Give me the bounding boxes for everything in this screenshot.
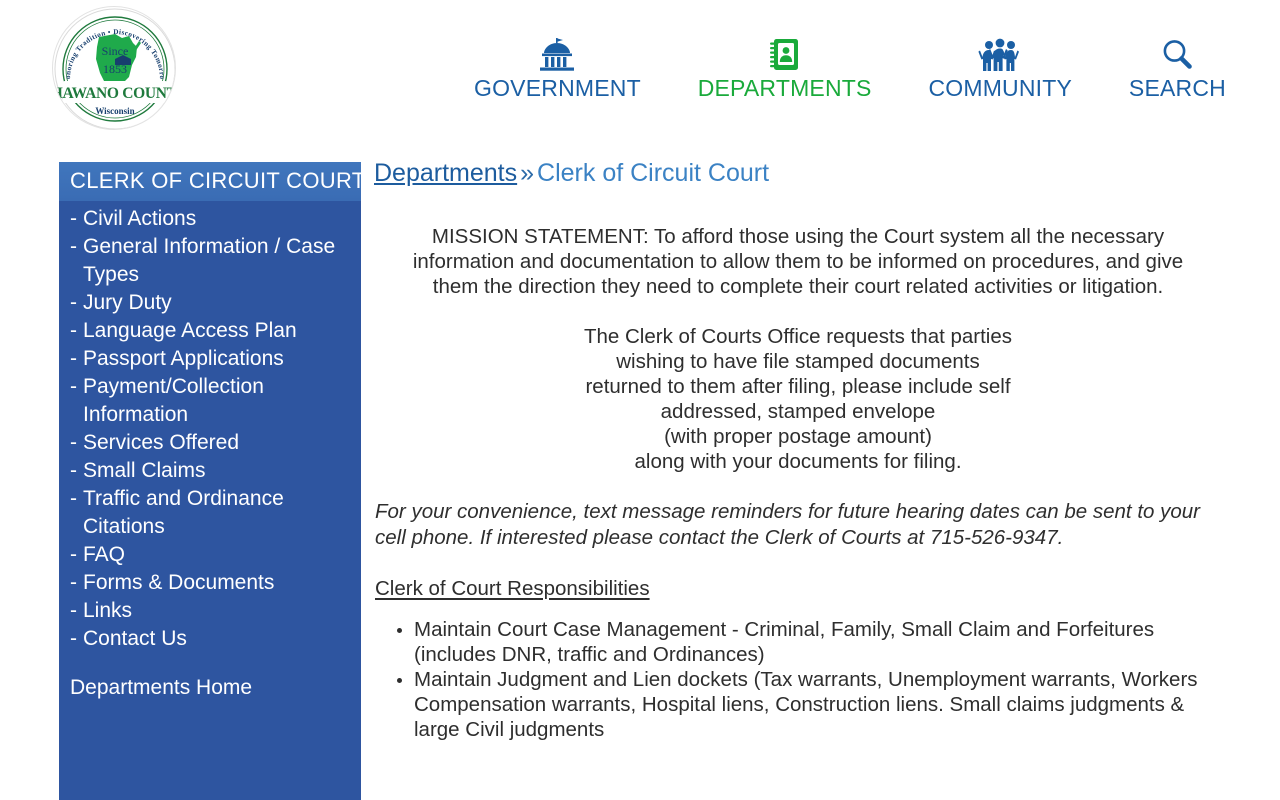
sidebar-item: -Forms & Documents (59, 569, 361, 597)
breadcrumb-departments-link[interactable]: Departments (374, 159, 517, 187)
list-item: Maintain Court Case Management - Crimina… (414, 617, 1222, 667)
nav-item-community[interactable]: COMMUNITY (924, 38, 1076, 102)
sidebar-item-label: Small Claims (83, 457, 351, 485)
sidebar-item-label: Language Access Plan (83, 317, 351, 345)
sidebar-item-faq[interactable]: -FAQ (59, 541, 361, 569)
sidebar-item: -Contact Us (59, 625, 361, 653)
dash-marker: - (70, 429, 77, 457)
responsibilities-list: Maintain Court Case Management - Crimina… (374, 617, 1222, 742)
sidebar-item-label: Payment/Collection Information (83, 373, 351, 429)
mission-statement: MISSION STATEMENT: To afford those using… (388, 224, 1208, 299)
sidebar-item: -Language Access Plan (59, 317, 361, 345)
dash-marker: - (70, 625, 77, 653)
sidebar-item-label: FAQ (83, 541, 351, 569)
sidebar-item-civil-actions[interactable]: -Civil Actions (59, 205, 361, 233)
site-logo[interactable]: Honoring Tradition • Discovering Tomorro… (52, 6, 176, 130)
nav-item-departments[interactable]: DEPARTMENTS (694, 38, 876, 102)
dash-marker: - (70, 457, 77, 485)
sidebar-item-label: Jury Duty (83, 289, 351, 317)
sidebar-item: -Passport Applications (59, 345, 361, 373)
sidebar-item-payment-collection-information[interactable]: -Payment/Collection Information (59, 373, 361, 429)
notice-line: addressed, stamped envelope (388, 399, 1208, 424)
sidebar-item-label: Contact Us (83, 625, 351, 653)
sidebar-item-contact-us[interactable]: -Contact Us (59, 625, 361, 653)
sidebar-menu: -Civil Actions -General Information / Ca… (59, 201, 361, 653)
nav-label-departments: DEPARTMENTS (698, 75, 872, 102)
sidebar-item: -Jury Duty (59, 289, 361, 317)
nav-label-search: SEARCH (1129, 75, 1226, 102)
address-book-icon (768, 38, 802, 72)
sidebar-item: -General Information / Case Types (59, 233, 361, 289)
dash-marker: - (70, 317, 77, 345)
nav-label-government: GOVERNMENT (474, 75, 641, 102)
sidebar-item: -Payment/Collection Information (59, 373, 361, 429)
sidebar-item-traffic-and-ordinance-citations[interactable]: -Traffic and Ordinance Citations (59, 485, 361, 541)
responsibilities-heading: Clerk of Court Responsibilities (375, 576, 1222, 601)
sidebar-item-small-claims[interactable]: -Small Claims (59, 457, 361, 485)
people-group-icon (978, 38, 1022, 72)
sidebar-item: -Small Claims (59, 457, 361, 485)
nav-item-search[interactable]: SEARCH (1125, 38, 1230, 102)
sidebar-item-language-access-plan[interactable]: -Language Access Plan (59, 317, 361, 345)
sidebar-item-passport-applications[interactable]: -Passport Applications (59, 345, 361, 373)
notice-line: (with proper postage amount) (388, 424, 1208, 449)
dash-marker: - (70, 597, 77, 625)
notice-line: returned to them after filing, please in… (388, 374, 1208, 399)
sidebar-item-general-information-case-types[interactable]: -General Information / Case Types (59, 233, 361, 289)
dash-marker: - (70, 485, 77, 513)
sidebar-item: -Civil Actions (59, 205, 361, 233)
sidebar-item-label: Forms & Documents (83, 569, 351, 597)
dash-marker: - (70, 233, 77, 261)
sidebar-item-label: Civil Actions (83, 205, 351, 233)
dash-marker: - (70, 541, 77, 569)
county-seal-icon: Honoring Tradition • Discovering Tomorro… (52, 6, 176, 130)
text-reminder-notice: For your convenience, text message remin… (375, 499, 1222, 550)
notice-line: wishing to have file stamped documents (388, 349, 1208, 374)
sidebar-item-links[interactable]: -Links (59, 597, 361, 625)
nav-item-government[interactable]: GOVERNMENT (470, 38, 645, 102)
breadcrumb: Departments»Clerk of Circuit Court (374, 136, 1222, 188)
breadcrumb-current: Clerk of Circuit Court (537, 159, 769, 187)
department-sidebar: CLERK OF CIRCUIT COURT -Civil Actions -G… (59, 162, 361, 800)
page-root: Honoring Tradition • Discovering Tomorro… (0, 0, 1280, 800)
list-item: Maintain Judgment and Lien dockets (Tax … (414, 667, 1222, 742)
sidebar-item-label: Services Offered (83, 429, 351, 457)
primary-navigation: GOVERNMENT (470, 38, 1230, 102)
sidebar-item-jury-duty[interactable]: -Jury Duty (59, 289, 361, 317)
main-content: Departments»Clerk of Circuit Court MISSI… (374, 136, 1222, 742)
dash-marker: - (70, 373, 77, 401)
nav-label-community: COMMUNITY (928, 75, 1072, 102)
notice-line: along with your documents for filing. (388, 449, 1208, 474)
sidebar-item: -Traffic and Ordinance Citations (59, 485, 361, 541)
site-header: Honoring Tradition • Discovering Tomorro… (0, 0, 1280, 136)
capitol-building-icon (536, 38, 578, 72)
sidebar-item-label: Links (83, 597, 351, 625)
dash-marker: - (70, 289, 77, 317)
sidebar-item-label: Passport Applications (83, 345, 351, 373)
sidebar-item-forms-and-documents[interactable]: -Forms & Documents (59, 569, 361, 597)
sidebar-item: -Links (59, 597, 361, 625)
dash-marker: - (70, 205, 77, 233)
breadcrumb-separator: » (517, 159, 537, 187)
search-icon (1160, 38, 1194, 72)
sidebar-departments-home-link[interactable]: Departments Home (59, 674, 361, 702)
sidebar-item: -Services Offered (59, 429, 361, 457)
dash-marker: - (70, 345, 77, 373)
dash-marker: - (70, 569, 77, 597)
svg-text:Wisconsin: Wisconsin (95, 106, 134, 116)
content-area: CLERK OF CIRCUIT COURT -Civil Actions -G… (0, 136, 1280, 800)
file-stamp-notice: The Clerk of Courts Office requests that… (388, 324, 1208, 474)
sidebar-item-label: General Information / Case Types (83, 233, 351, 289)
sidebar-item-services-offered[interactable]: -Services Offered (59, 429, 361, 457)
sidebar-title: CLERK OF CIRCUIT COURT (59, 162, 361, 201)
sidebar-item-label: Traffic and Ordinance Citations (83, 485, 351, 541)
notice-line: The Clerk of Courts Office requests that… (388, 324, 1208, 349)
svg-text:SHAWANO COUNTY: SHAWANO COUNTY (53, 85, 176, 102)
sidebar-item: -FAQ (59, 541, 361, 569)
